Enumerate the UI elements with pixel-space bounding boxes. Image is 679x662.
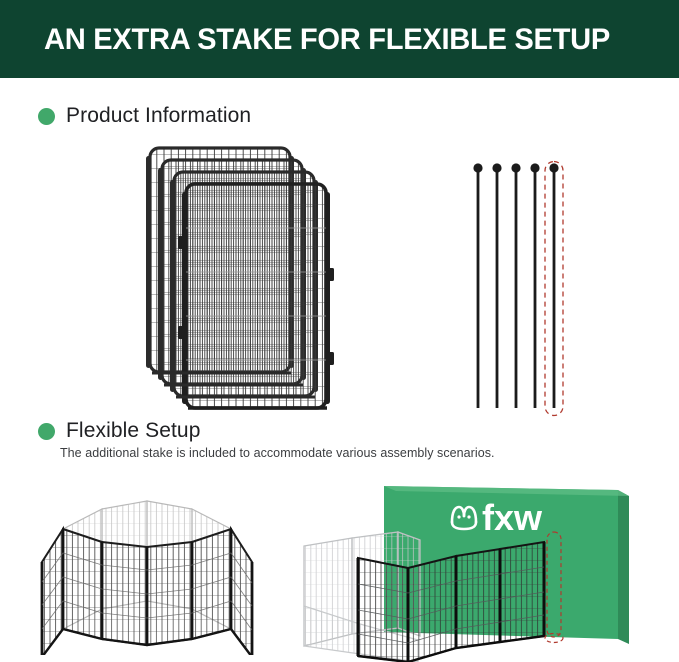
- stake-3: [511, 163, 520, 408]
- section-title-product-information: Product Information: [66, 104, 251, 128]
- infographic-page: AN EXTRA STAKE FOR FLEXIBLE SETUP Produc…: [0, 0, 679, 662]
- wall-mounted-pen-illustration: fxw: [300, 476, 640, 662]
- page-title: AN EXTRA STAKE FOR FLEXIBLE SETUP: [44, 23, 610, 57]
- brand-wordmark: fxw: [482, 497, 543, 538]
- stake-5-extra: [549, 163, 558, 408]
- header-banner: AN EXTRA STAKE FOR FLEXIBLE SETUP: [0, 0, 679, 78]
- stake-2: [492, 163, 501, 408]
- section-heading-flexible-setup: Flexible Setup: [38, 419, 200, 443]
- stake-4: [530, 163, 539, 408]
- section-heading-product-information: Product Information: [38, 104, 251, 128]
- stacked-fence-panels-illustration: [128, 140, 338, 410]
- ground-stakes-illustration: [468, 160, 568, 418]
- green-dot-icon: [38, 423, 55, 440]
- green-dot-icon: [38, 108, 55, 125]
- section-title-flexible-setup: Flexible Setup: [66, 419, 200, 443]
- octagon-pen-illustration: [22, 487, 272, 655]
- section-subtitle-flexible-setup: The additional stake is included to acco…: [60, 446, 495, 460]
- stake-1: [473, 163, 482, 408]
- brand-wall-edge: [618, 490, 629, 644]
